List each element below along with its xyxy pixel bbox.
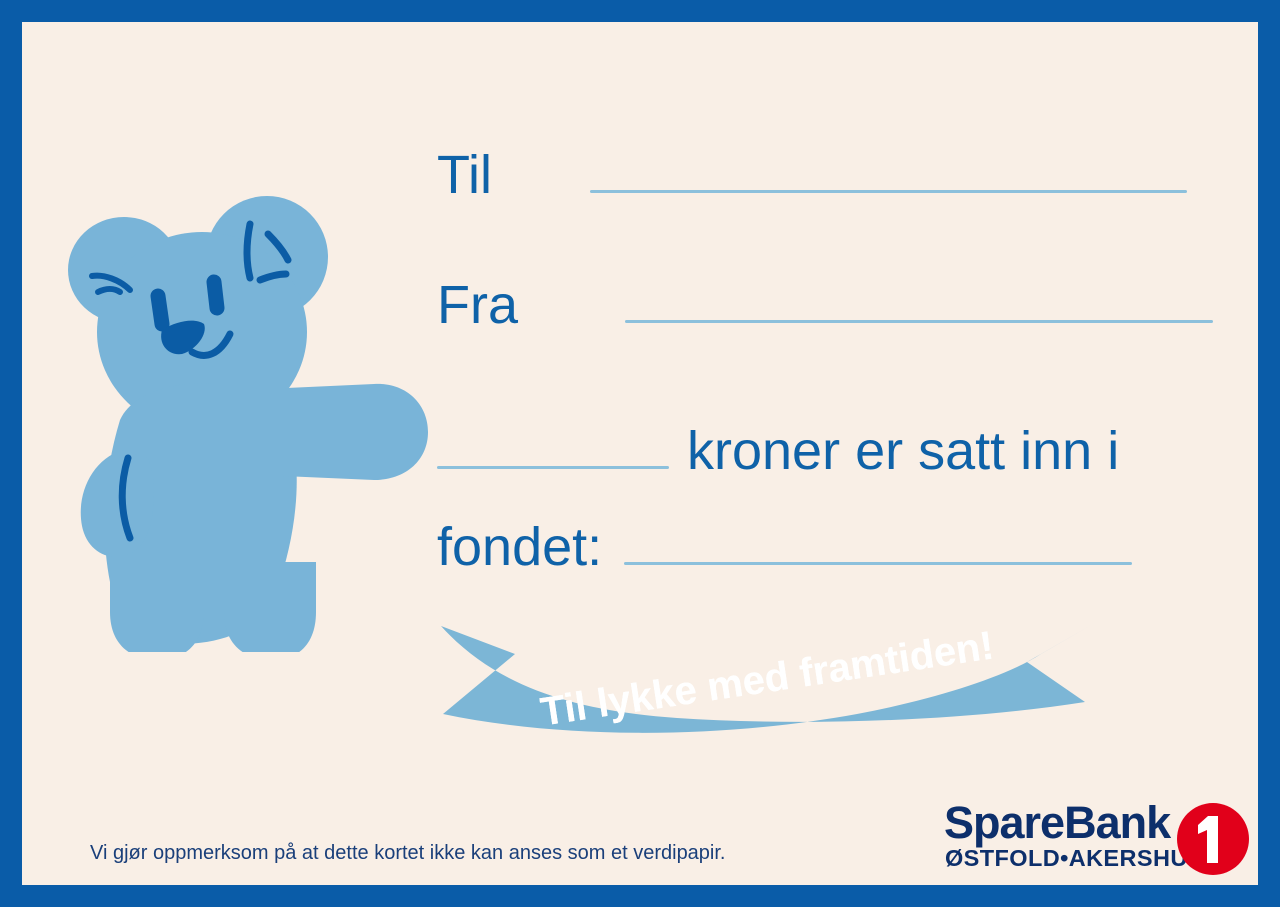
bear-raised-arm-joint <box>212 382 282 482</box>
fund-label: fondet: <box>437 520 602 574</box>
teddy-bear-illustration <box>62 182 432 652</box>
amount-text: kroner er satt inn i <box>687 424 1119 478</box>
recipient-input-line[interactable] <box>590 190 1187 193</box>
sender-label: Fra <box>437 278 518 332</box>
fund-row: fondet: <box>437 520 1132 574</box>
bear-leg-gap <box>204 562 224 634</box>
amount-row: kroner er satt inn i <box>437 424 1119 478</box>
sparebank1-logo[interactable]: SpareBank ØSTFOLD•AKERSHUS <box>944 800 1234 878</box>
logo-wordmark: SpareBank <box>944 800 1170 845</box>
congratulations-ribbon: Til lykke med framtiden! <box>437 610 1097 740</box>
bear-right-eye <box>214 282 217 308</box>
ribbon-shape <box>441 624 1093 733</box>
logo-number-one-mark <box>1177 803 1249 875</box>
sender-input-line[interactable] <box>625 320 1213 323</box>
recipient-row: Til <box>437 148 1187 202</box>
disclaimer-text: Vi gjør oppmerksom på at dette kortet ik… <box>90 842 726 865</box>
sender-row: Fra <box>437 278 1213 332</box>
bear-left-eye <box>158 296 162 324</box>
recipient-label: Til <box>437 148 492 202</box>
bear-left-ear-whisker-2 <box>98 289 120 292</box>
bear-right-ear-whisker-1 <box>247 224 250 278</box>
fund-input-line[interactable] <box>624 562 1132 565</box>
bear-right-leg <box>224 562 316 652</box>
bear-left-arm <box>81 450 154 557</box>
amount-input-line[interactable] <box>437 466 669 469</box>
bear-left-leg <box>110 562 204 652</box>
logo-subtitle: ØSTFOLD•AKERSHUS <box>945 847 1204 871</box>
greeting-card: Til Fra kroner er satt inn i fondet: Til… <box>0 0 1280 907</box>
card-inner-panel: Til Fra kroner er satt inn i fondet: Til… <box>22 22 1258 885</box>
